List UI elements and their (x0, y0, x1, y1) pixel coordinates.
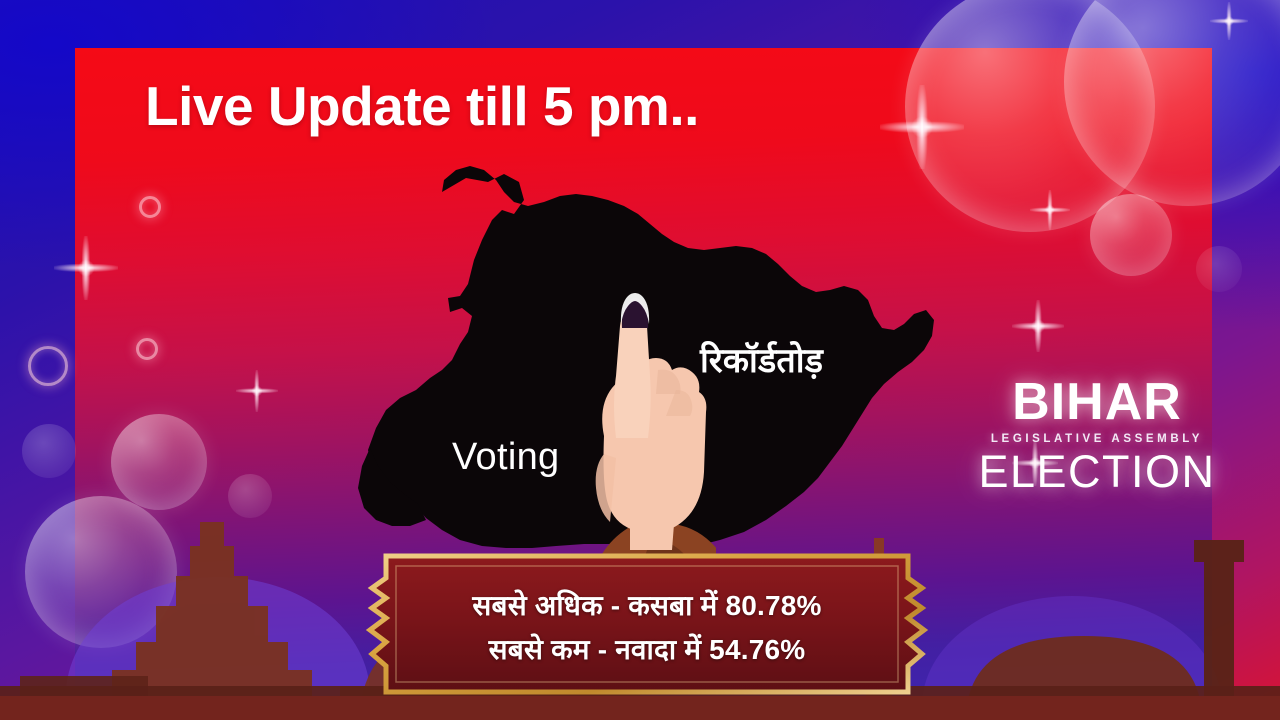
page-title: Live Update till 5 pm.. (145, 76, 699, 137)
bihar-election-logo: BIHAR LEGISLATIVE ASSEMBLY ELECTION (966, 378, 1228, 495)
voting-hand-inked-finger (566, 286, 716, 576)
map-label-voting: Voting (452, 436, 559, 479)
logo-line-bihar: BIHAR (966, 378, 1228, 428)
sparkle-star-icon (1210, 2, 1248, 40)
bubble-circle-icon (28, 346, 68, 386)
map-label-record: रिकॉर्डतोड़ (700, 336, 823, 382)
stat-line-highest: सबसे अधिक - कसबा में 80.78% (472, 586, 821, 624)
bubble-circle-icon (22, 424, 76, 478)
stats-banner: सबसे अधिक - कसबा में 80.78% सबसे कम - नव… (352, 548, 942, 700)
stat-line-lowest: सबसे कम - नवादा में 54.76% (489, 630, 806, 668)
logo-line-election: ELECTION (966, 449, 1228, 495)
poster-canvas: Voting रिकॉर्डतोड़ BIHAR LEGISLATIVE (0, 0, 1280, 720)
